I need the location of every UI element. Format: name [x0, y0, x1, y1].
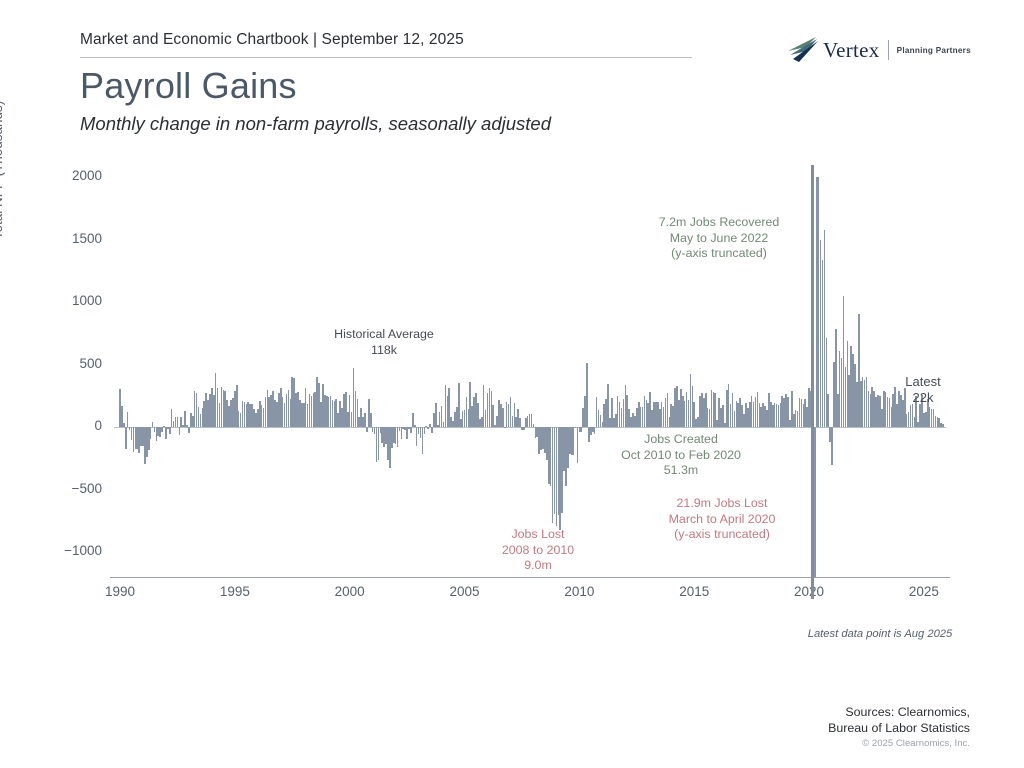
logo-wordmark: Vertex — [823, 40, 880, 61]
annotation-line: Jobs Lost — [428, 527, 648, 543]
y-tick-label: 2000 — [32, 168, 102, 183]
x-axis-line — [110, 577, 950, 578]
bar — [370, 413, 372, 427]
annotation-line: May to June 2022 — [609, 231, 829, 247]
annotation-latest-value: Latest22k — [813, 374, 1024, 406]
zero-baseline — [114, 427, 946, 428]
x-tick-label: 1995 — [205, 584, 265, 599]
bar — [831, 427, 833, 465]
annotation-jobs-recovered: 7.2m Jobs RecoveredMay to June 2022(y-ax… — [609, 215, 829, 262]
bar — [427, 427, 429, 428]
bar — [410, 427, 412, 433]
sources-line-2: Bureau of Labor Statistics — [740, 720, 970, 736]
copyright-text: © 2025 Clearnomics, Inc. — [740, 738, 970, 749]
chartbook-header-line: Market and Economic Chartbook | Septembe… — [80, 31, 692, 49]
x-tick-label: 2025 — [894, 584, 954, 599]
annotation-line: 7.2m Jobs Recovered — [609, 215, 829, 231]
y-tick-label: 500 — [32, 356, 102, 371]
chartbook-slide: Market and Economic Chartbook | Septembe… — [0, 0, 1024, 768]
logo-divider — [888, 40, 889, 60]
y-axis-label: Total NFP (Thousands) — [0, 50, 5, 290]
annotation-line: Latest — [813, 374, 1024, 390]
bar — [364, 413, 366, 427]
bar — [580, 427, 582, 431]
bar — [177, 417, 179, 427]
bar — [435, 403, 437, 427]
annotation-historical-average: Historical Average118k — [274, 327, 494, 358]
annotation-line: Historical Average — [274, 327, 494, 343]
logo-tagline: Planning Partners — [897, 46, 971, 55]
y-tick-label: 1000 — [32, 293, 102, 308]
page-subtitle: Monthly change in non-farm payrolls, sea… — [80, 113, 551, 135]
bar — [161, 427, 163, 432]
bar — [519, 418, 521, 427]
annotation-line: 22k — [813, 390, 1024, 406]
bar — [188, 427, 190, 432]
bar — [401, 427, 403, 439]
latest-data-note: Latest data point is Aug 2025 — [800, 628, 960, 640]
page-title: Payroll Gains — [80, 65, 297, 107]
annotation-line: 21.9m Jobs Lost — [612, 496, 832, 512]
bar — [942, 424, 944, 427]
bar — [366, 427, 368, 432]
bar — [523, 427, 525, 430]
bar — [125, 427, 127, 449]
vertex-logo: Vertex Planning Partners — [786, 33, 971, 67]
annotation-line: Oct 2010 to Feb 2020 — [571, 448, 791, 464]
annotation-jobs-lost-2008: Jobs Lost2008 to 20109.0m — [428, 527, 648, 574]
bar — [127, 412, 129, 427]
bar — [492, 405, 494, 428]
sources-line-1: Sources: Clearnomics, — [740, 704, 970, 720]
annotation-line: 9.0m — [428, 558, 648, 574]
annotation-line: March to April 2020 — [612, 512, 832, 528]
x-tick-label: 2000 — [320, 584, 380, 599]
annotation-line: 2008 to 2010 — [428, 543, 648, 559]
bar — [502, 408, 504, 427]
annotation-line: (y-axis truncated) — [609, 246, 829, 262]
y-tick-label: −1000 — [32, 543, 102, 558]
x-tick-label: 2015 — [664, 584, 724, 599]
y-tick-label: 1500 — [32, 231, 102, 246]
payroll-gains-chart: Total NFP (Thousands) 2000150010005000−5… — [0, 140, 1024, 610]
bar — [179, 427, 181, 435]
annotation-line: 118k — [274, 343, 494, 359]
annotation-jobs-created: Jobs CreatedOct 2010 to Feb 202051.3m — [571, 432, 791, 479]
bar — [424, 427, 426, 433]
x-tick-label: 1990 — [90, 584, 150, 599]
bar — [431, 427, 433, 433]
x-tick-label: 2020 — [779, 584, 839, 599]
y-tick-label: −500 — [32, 481, 102, 496]
x-tick-label: 2010 — [549, 584, 609, 599]
vertex-arrow-icon — [786, 35, 820, 65]
sources-block: Sources: Clearnomics, Bureau of Labor St… — [740, 704, 970, 736]
x-tick-label: 2005 — [435, 584, 495, 599]
bar — [169, 427, 171, 434]
annotation-line: Jobs Created — [571, 432, 791, 448]
y-tick-label: 0 — [32, 418, 102, 433]
bar — [406, 427, 408, 439]
header-divider — [80, 57, 692, 58]
bar — [150, 427, 152, 439]
annotation-line: 51.3m — [571, 463, 791, 479]
bar — [586, 363, 588, 427]
